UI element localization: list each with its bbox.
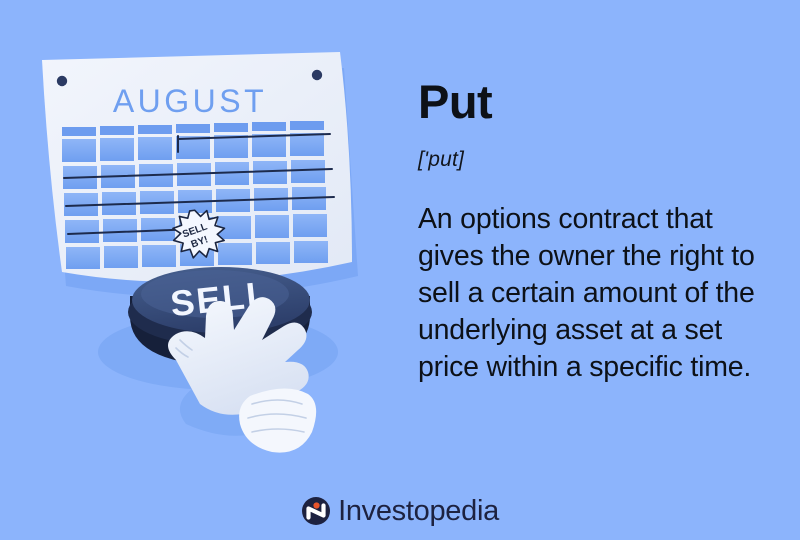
calendar-month-label: AUGUST [113,83,267,119]
term-pronunciation: ['put] [418,148,766,172]
brand-footer: Investopedia [0,496,800,526]
investopedia-logo-icon [301,496,331,526]
term-definition: An options contract that gives the owner… [418,201,764,386]
definition-panel: Put ['put] An options contract that give… [418,78,766,386]
calendar-pin-right-icon [312,70,322,80]
calendar-pin-left-icon [57,76,67,86]
put-illustration: AUGUST SELL BY! SELL [0,0,400,500]
investopedia-wordmark: Investopedia [338,497,499,526]
term-title: Put [418,78,766,125]
hand-cuff [239,388,316,452]
